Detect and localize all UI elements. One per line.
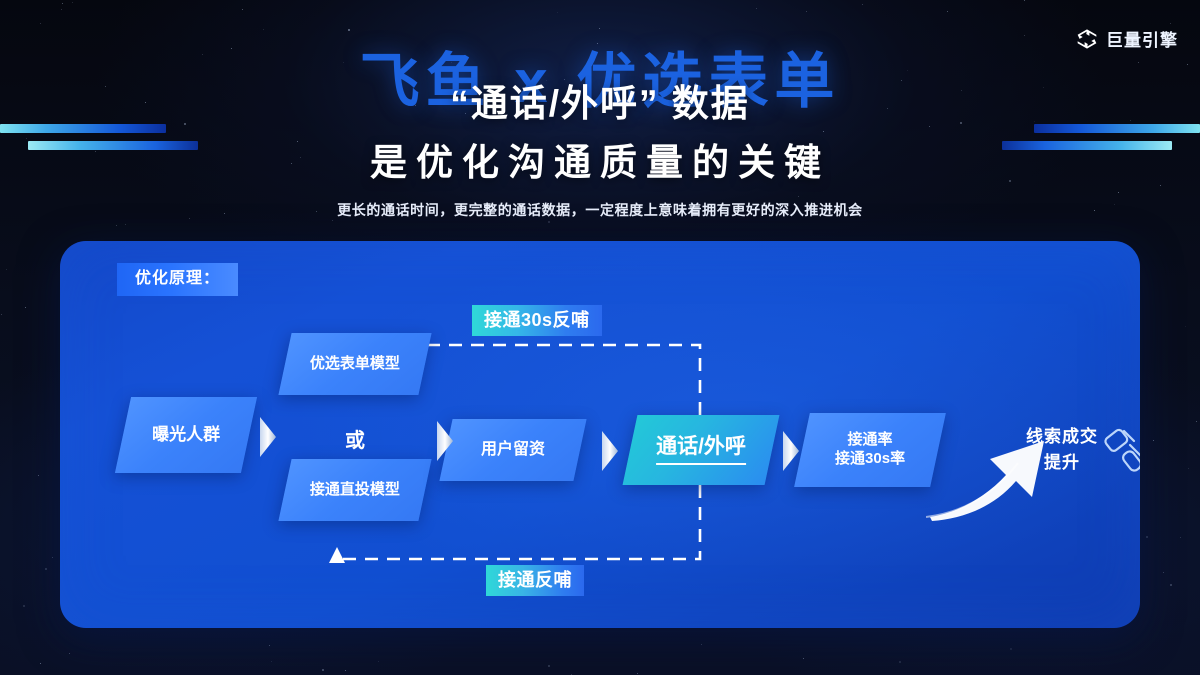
flow-node-call-outbound-label: 通话/外呼 [656, 434, 746, 465]
chevron-right-icon-1 [259, 417, 276, 457]
headline-subtitle: 更长的通话时间，更完整的通话数据，一定程度上意味着拥有更好的深入推进机会 [0, 203, 1200, 217]
flow-node-exposure-label: 曝光人群 [152, 424, 220, 445]
flow-node-call-outbound[interactable]: 通话/外呼 [623, 415, 780, 485]
connect-rate-line-2: 接通30s率 [835, 450, 905, 467]
flow-node-direct-call-model[interactable]: 接通直投模型 [278, 459, 431, 521]
ribbon-feedback-connected: 接通反哺 [486, 565, 584, 596]
diagram-panel: 优化原理： 接通30s反哺 接通反哺 曝光人群 优选表单模型 或 接通直投模 [60, 241, 1140, 628]
gavel-icon [1100, 423, 1140, 479]
headline-line-1: “通话/外呼” 数据 [0, 85, 1200, 122]
chevron-right-icon-3 [601, 431, 618, 471]
chevron-right-icon-2 [436, 421, 453, 461]
flow-node-preferred-form-model-label: 优选表单模型 [310, 355, 400, 374]
flow-node-or-label: 或 [345, 424, 365, 453]
connect-rate-line-1: 接通率 [847, 431, 892, 448]
flow-node-user-leave-info[interactable]: 用户留资 [439, 419, 586, 481]
chevron-right-icon-4 [782, 431, 799, 471]
headline-block: 飞鱼 x 优选表单 “通话/外呼” 数据 是优化沟通质量的关键 更长的通话时间，… [0, 52, 1200, 217]
flow-node-user-leave-info-label: 用户留资 [481, 440, 545, 460]
flow-node-direct-call-model-label: 接通直投模型 [310, 481, 400, 500]
flow-node-connect-rate-labels: 接通率 接通30s率 [835, 431, 905, 469]
slide-canvas: 巨量引擎 飞鱼 x 优选表单 “通话/外呼” 数据 是优化沟通质量的关键 更长的… [0, 0, 1200, 675]
section-label-optimization-principle: 优化原理： [117, 263, 238, 296]
flow-node-connect-rate[interactable]: 接通率 接通30s率 [794, 413, 946, 487]
headline-line-2: 是优化沟通质量的关键 [0, 144, 1200, 181]
flow-node-or: 或 [320, 423, 390, 453]
ribbon-feedback-30s: 接通30s反哺 [472, 305, 602, 336]
brand-logo: 巨量引擎 [1076, 26, 1178, 51]
brand-name: 巨量引擎 [1106, 26, 1178, 51]
oceanengine-logo-icon [1076, 28, 1098, 50]
flow-node-preferred-form-model[interactable]: 优选表单模型 [278, 333, 431, 395]
flow-node-exposure[interactable]: 曝光人群 [115, 397, 257, 473]
